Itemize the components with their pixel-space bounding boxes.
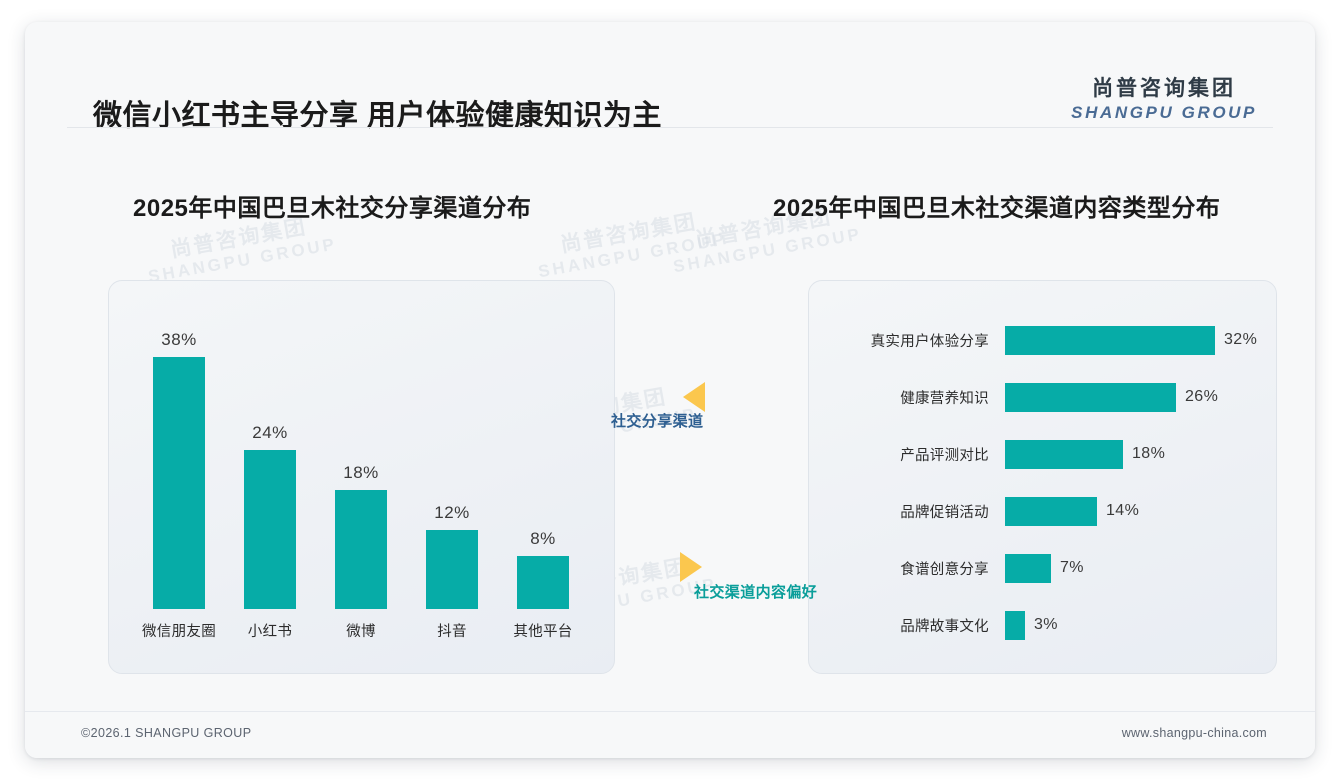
bar[interactable] [153,357,205,609]
bar-row: 食谱创意分享 7% [809,553,1276,583]
bar-value-label: 3% [1034,616,1058,634]
bar[interactable] [517,556,569,609]
bar[interactable] [244,450,296,609]
bar-category-label: 食谱创意分享 [809,558,1005,579]
logo-text-en: SHANGPU GROUP [1071,104,1257,121]
bar[interactable] [1005,383,1176,412]
watermark-en: SHANGPU GROUP [537,230,729,282]
logo-text-cn: 尚普咨询集团 [1071,78,1257,99]
bar-value-label: 24% [252,423,288,443]
bar-value-label: 8% [530,529,556,549]
bar-value-label: 14% [1106,502,1139,520]
bar[interactable] [335,490,387,609]
bar-track: 18% [324,321,398,609]
bar-row: 真实用户体验分享 32% [809,325,1276,355]
bar[interactable] [1005,440,1123,469]
bar-value-label: 26% [1185,388,1218,406]
bar-value-label: 7% [1060,559,1084,577]
slide-header: 微信小红书主导分享 用户体验健康知识为主 尚普咨询集团 SHANGPU GROU… [25,22,1315,128]
horizontal-bar-chart: 真实用户体验分享 32% 健康营养知识 26% 产品评测对比 18% 品牌促销活… [809,281,1276,673]
bar-track: 24% [233,321,307,609]
bar-category-label: 其他平台 [506,620,580,641]
watermark-cn: 尚普咨询集团 [533,206,725,263]
bar[interactable] [1005,611,1025,640]
bar-track: 12% [415,321,489,609]
bar-row: 品牌故事文化 3% [809,610,1276,640]
bar-category-label: 小红书 [233,620,307,641]
bar-category-label: 产品评测对比 [809,444,1005,465]
bar-value-label: 32% [1224,331,1257,349]
bar-value-label: 18% [1132,445,1165,463]
slide-footer: ©2026.1 SHANGPU GROUP www.shangpu-china.… [25,711,1315,758]
annotation-content-preference: 社交渠道内容偏好 [680,552,817,602]
bar-track: 38% [142,321,216,609]
annotation-label: 社交渠道内容偏好 [694,581,817,602]
bar-category-label: 品牌故事文化 [809,615,1005,636]
bar-group: 12% 抖音 [415,321,489,641]
bar-group: 38% 微信朋友圈 [142,321,216,641]
watermark: 尚普咨询集团 SHANGPU GROUP [533,206,729,282]
bar-group: 18% 微博 [324,321,398,641]
chart-title-left: 2025年中国巴旦木社交分享渠道分布 [133,188,531,223]
bar-row: 产品评测对比 18% [809,439,1276,469]
bar-row: 品牌促销活动 14% [809,496,1276,526]
triangle-right-icon [680,552,702,582]
bar[interactable] [1005,497,1097,526]
bar-group: 8% 其他平台 [506,321,580,641]
vertical-bar-chart: 38% 微信朋友圈 24% 小红书 18% 微博 [109,281,614,673]
bar-track: 8% [506,321,580,609]
bar-category-label: 微博 [324,620,398,641]
bar[interactable] [1005,326,1215,355]
watermark-en: SHANGPU GROUP [672,225,864,277]
slide-card: 尚普咨询集团 SHANGPU GROUP 尚普咨询集团 SHANGPU GROU… [25,22,1315,758]
bar-value-label: 18% [343,463,379,483]
annotation-social-channel: 社交分享渠道 [611,382,705,431]
bar[interactable] [426,530,478,609]
bar-category-label: 健康营养知识 [809,387,1005,408]
chart-panel-right: 真实用户体验分享 32% 健康营养知识 26% 产品评测对比 18% 品牌促销活… [808,280,1277,674]
brand-logo: 尚普咨询集团 SHANGPU GROUP [1071,78,1257,121]
chart-title-right: 2025年中国巴旦木社交渠道内容类型分布 [773,188,1220,223]
website-link[interactable]: www.shangpu-china.com [1122,726,1267,740]
bar[interactable] [1005,554,1051,583]
bar-value-label: 38% [161,330,197,350]
header-divider [67,127,1273,128]
bar-category-label: 微信朋友圈 [142,620,216,641]
bar-value-label: 12% [434,503,470,523]
bar-category-label: 真实用户体验分享 [809,330,1005,351]
triangle-left-icon [683,382,705,412]
bar-category-label: 品牌促销活动 [809,501,1005,522]
bar-row: 健康营养知识 26% [809,382,1276,412]
chart-panel-left: 38% 微信朋友圈 24% 小红书 18% 微博 [108,280,615,674]
bar-group: 24% 小红书 [233,321,307,641]
copyright-text: ©2026.1 SHANGPU GROUP [81,726,251,740]
bar-category-label: 抖音 [415,620,489,641]
annotation-label: 社交分享渠道 [611,410,705,431]
